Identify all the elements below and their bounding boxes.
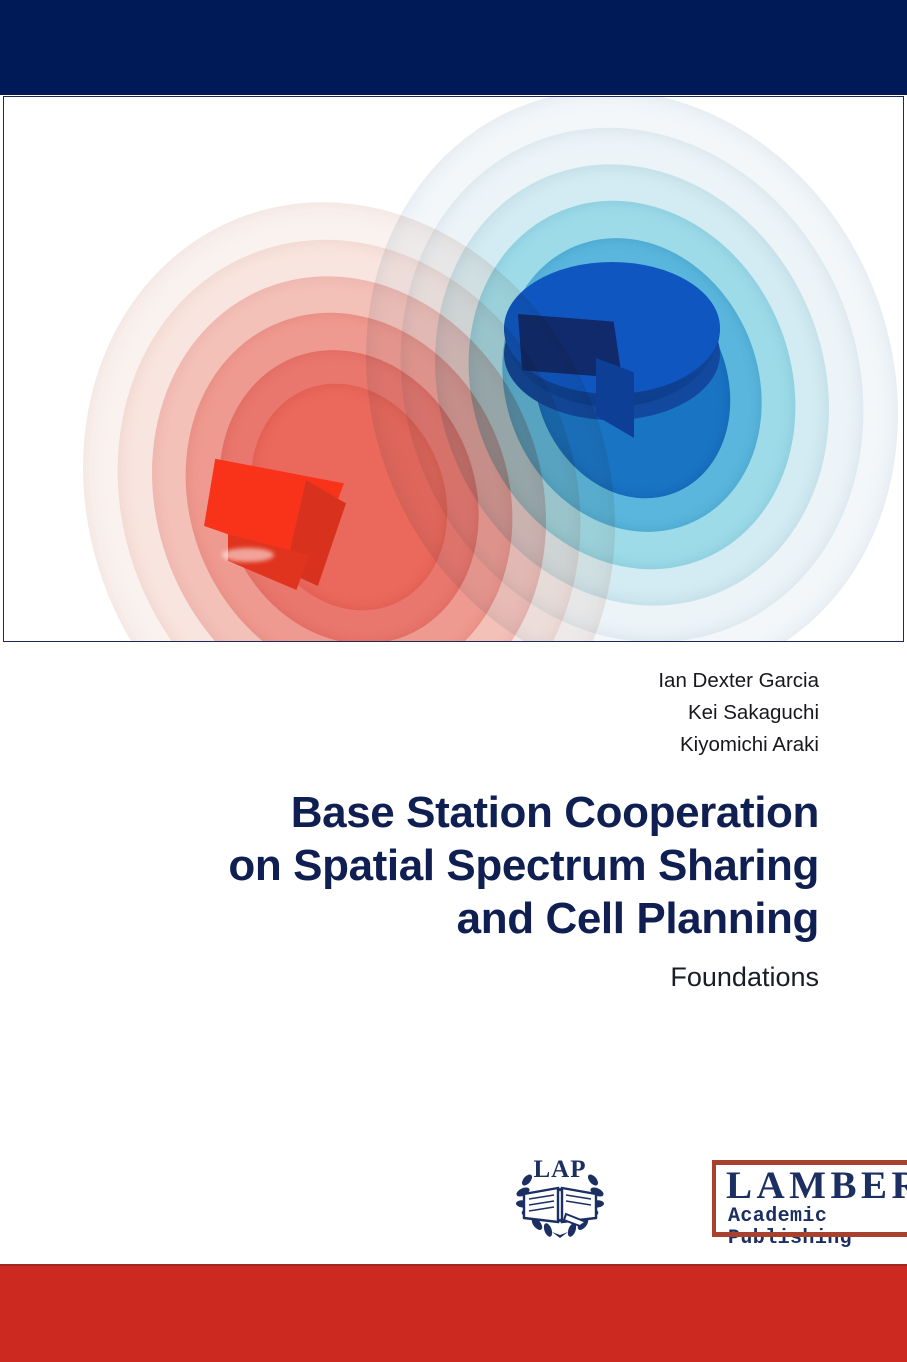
publisher-wordmark: LAMBERT Academic Publishing <box>614 1150 828 1242</box>
red-3d-pie-wedge <box>204 452 354 600</box>
logo-bottom-rule <box>716 1232 907 1237</box>
publisher-logo: LAP LAMBERT Academic Publishing <box>514 1148 828 1244</box>
lap-emblem-icon: LAP <box>514 1152 606 1240</box>
publisher-name: LAMBERT <box>726 1166 907 1206</box>
author-list: Ian Dexter Garcia Kei Sakaguchi Kiyomich… <box>658 665 819 761</box>
book-subtitle: Foundations <box>670 962 819 993</box>
publisher-tagline: Academic Publishing <box>728 1206 852 1250</box>
logo-left-rule <box>712 1160 716 1237</box>
author-name: Ian Dexter Garcia <box>658 665 819 697</box>
book-title: Base Station Cooperation on Spatial Spec… <box>59 786 819 945</box>
title-line: and Cell Planning <box>59 892 819 945</box>
red-wedge-highlight <box>222 548 274 562</box>
top-navy-band <box>0 0 907 95</box>
bottom-red-band <box>0 1264 907 1362</box>
author-name: Kei Sakaguchi <box>658 697 819 729</box>
svg-text:LAP: LAP <box>534 1156 587 1183</box>
book-cover: Ian Dexter Garcia Kei Sakaguchi Kiyomich… <box>0 0 907 1360</box>
cover-artwork <box>3 96 904 642</box>
artwork-stage <box>4 97 903 641</box>
author-name: Kiyomichi Araki <box>658 729 819 761</box>
title-line: on Spatial Spectrum Sharing <box>59 839 819 892</box>
red-ring-cluster <box>4 97 903 641</box>
title-line: Base Station Cooperation <box>59 786 819 839</box>
